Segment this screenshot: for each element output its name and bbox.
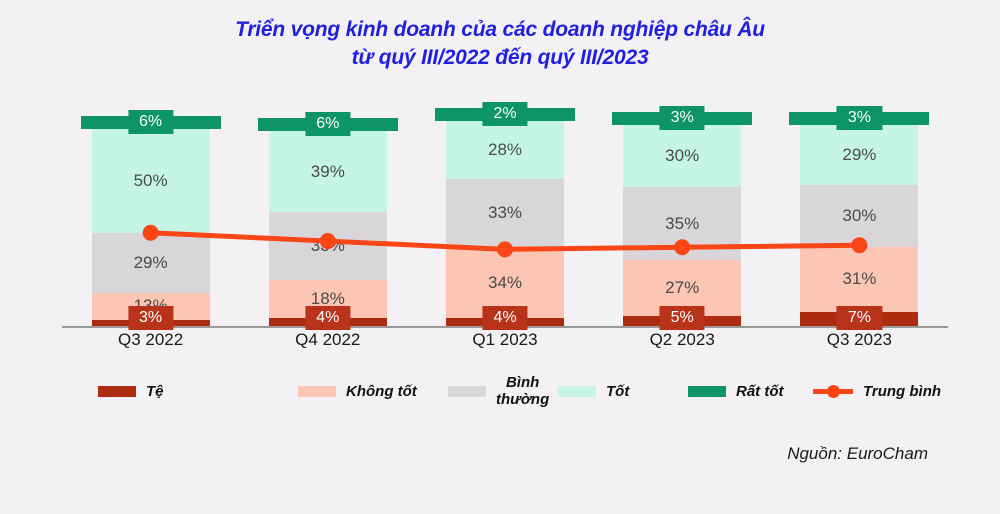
- legend-item[interactable]: Trung bình: [813, 370, 941, 412]
- legend-item[interactable]: Rất tốt: [688, 370, 784, 412]
- plot-area: 3%13%29%50%6%4%18%33%39%6%4%34%33%28%2%5…: [62, 88, 948, 328]
- legend-color-swatch: [98, 386, 136, 397]
- bar-value-label-good: 50%: [134, 171, 168, 191]
- bar-group[interactable]: 5%27%35%30%3%: [623, 88, 741, 326]
- bar-segment-good[interactable]: 29%: [800, 125, 918, 185]
- bar-value-label-verygood: 6%: [128, 110, 173, 134]
- bar-segment-verygood[interactable]: 3%: [789, 112, 929, 125]
- bar-value-label-good: 29%: [842, 145, 876, 165]
- legend-label: Trung bình: [863, 383, 941, 400]
- bar-segment-good[interactable]: 30%: [623, 125, 741, 187]
- bar-segment-good[interactable]: 28%: [446, 121, 564, 179]
- bar-value-label-bad: 4%: [305, 306, 350, 330]
- legend-label: Tốt: [606, 383, 629, 400]
- legend-item[interactable]: Không tốt: [298, 370, 417, 412]
- bar-segment-bad[interactable]: 3%: [92, 320, 210, 326]
- chart-legend: TệKhông tốtBình thườngTốtRất tốtTrung bì…: [98, 370, 948, 412]
- bar-segment-bad[interactable]: 4%: [446, 318, 564, 326]
- bar-value-label-good: 30%: [665, 146, 699, 166]
- bar-segment-verygood[interactable]: 6%: [258, 118, 398, 131]
- bar-value-label-normal: 29%: [134, 253, 168, 273]
- bar-segment-verygood[interactable]: 2%: [435, 108, 575, 121]
- x-axis-label: Q3 2022: [81, 330, 221, 350]
- bar-value-label-notgood: 27%: [665, 278, 699, 298]
- chart-container: Triển vọng kinh doanh của các doanh nghi…: [0, 0, 1000, 514]
- chart-title-line-2: từ quý III/2022 đến quý III/2023: [0, 44, 1000, 72]
- legend-label: Rất tốt: [736, 383, 784, 400]
- bar-segment-normal[interactable]: 33%: [446, 179, 564, 247]
- bar-segment-bad[interactable]: 7%: [800, 312, 918, 326]
- bar-segment-normal[interactable]: 29%: [92, 233, 210, 293]
- x-axis-labels: Q3 2022Q4 2022Q1 2023Q2 2023Q3 2023: [62, 330, 948, 354]
- bar-value-label-verygood: 6%: [305, 112, 350, 136]
- bar-value-label-bad: 5%: [660, 306, 705, 330]
- legend-item[interactable]: Tốt: [558, 370, 629, 412]
- bar-value-label-notgood: 34%: [488, 273, 522, 293]
- legend-color-swatch: [558, 386, 596, 397]
- chart-title: Triển vọng kinh doanh của các doanh nghi…: [0, 16, 1000, 72]
- bar-value-label-bad: 3%: [128, 306, 173, 330]
- bar-value-label-bad: 7%: [837, 306, 882, 330]
- bar-value-label-bad: 4%: [482, 306, 527, 330]
- bar-segment-verygood[interactable]: 3%: [612, 112, 752, 125]
- bar-value-label-verygood: 2%: [482, 102, 527, 126]
- bar-value-label-normal: 33%: [488, 203, 522, 223]
- chart-title-line-1: Triển vọng kinh doanh của các doanh nghi…: [0, 16, 1000, 44]
- legend-color-swatch: [298, 386, 336, 397]
- legend-label: Bình thường: [496, 374, 549, 408]
- bar-segment-bad[interactable]: 4%: [269, 318, 387, 326]
- bar-segment-good[interactable]: 39%: [269, 131, 387, 212]
- bar-value-label-good: 28%: [488, 140, 522, 160]
- bar-segment-normal[interactable]: 33%: [269, 212, 387, 280]
- x-axis-label: Q2 2023: [612, 330, 752, 350]
- bar-group[interactable]: 3%13%29%50%6%: [92, 88, 210, 326]
- x-axis-label: Q3 2023: [789, 330, 929, 350]
- bar-segment-bad[interactable]: 5%: [623, 316, 741, 326]
- x-axis-label: Q1 2023: [435, 330, 575, 350]
- bar-value-label-good: 39%: [311, 162, 345, 182]
- bar-segment-notgood[interactable]: 31%: [800, 247, 918, 311]
- bar-segment-verygood[interactable]: 6%: [81, 116, 221, 129]
- legend-item[interactable]: Tệ: [98, 370, 164, 412]
- legend-line-marker-icon: [813, 383, 853, 399]
- bar-segment-good[interactable]: 50%: [92, 129, 210, 233]
- bar-group[interactable]: 7%31%30%29%3%: [800, 88, 918, 326]
- legend-color-swatch: [448, 386, 486, 397]
- bar-value-label-normal: 35%: [665, 214, 699, 234]
- bar-value-label-verygood: 3%: [837, 106, 882, 130]
- legend-color-swatch: [688, 386, 726, 397]
- bar-group[interactable]: 4%34%33%28%2%: [446, 88, 564, 326]
- legend-label: Tệ: [146, 383, 164, 400]
- bar-value-label-normal: 30%: [842, 206, 876, 226]
- bar-value-label-normal: 33%: [311, 236, 345, 256]
- bar-segment-normal[interactable]: 30%: [800, 185, 918, 247]
- bar-group[interactable]: 4%18%33%39%6%: [269, 88, 387, 326]
- bar-value-label-verygood: 3%: [660, 106, 705, 130]
- x-axis-label: Q4 2022: [258, 330, 398, 350]
- legend-label: Không tốt: [346, 383, 417, 400]
- bar-segment-normal[interactable]: 35%: [623, 187, 741, 259]
- source-note: Nguồn: EuroCham: [787, 444, 928, 464]
- legend-item[interactable]: Bình thường: [448, 370, 549, 412]
- bar-value-label-notgood: 31%: [842, 269, 876, 289]
